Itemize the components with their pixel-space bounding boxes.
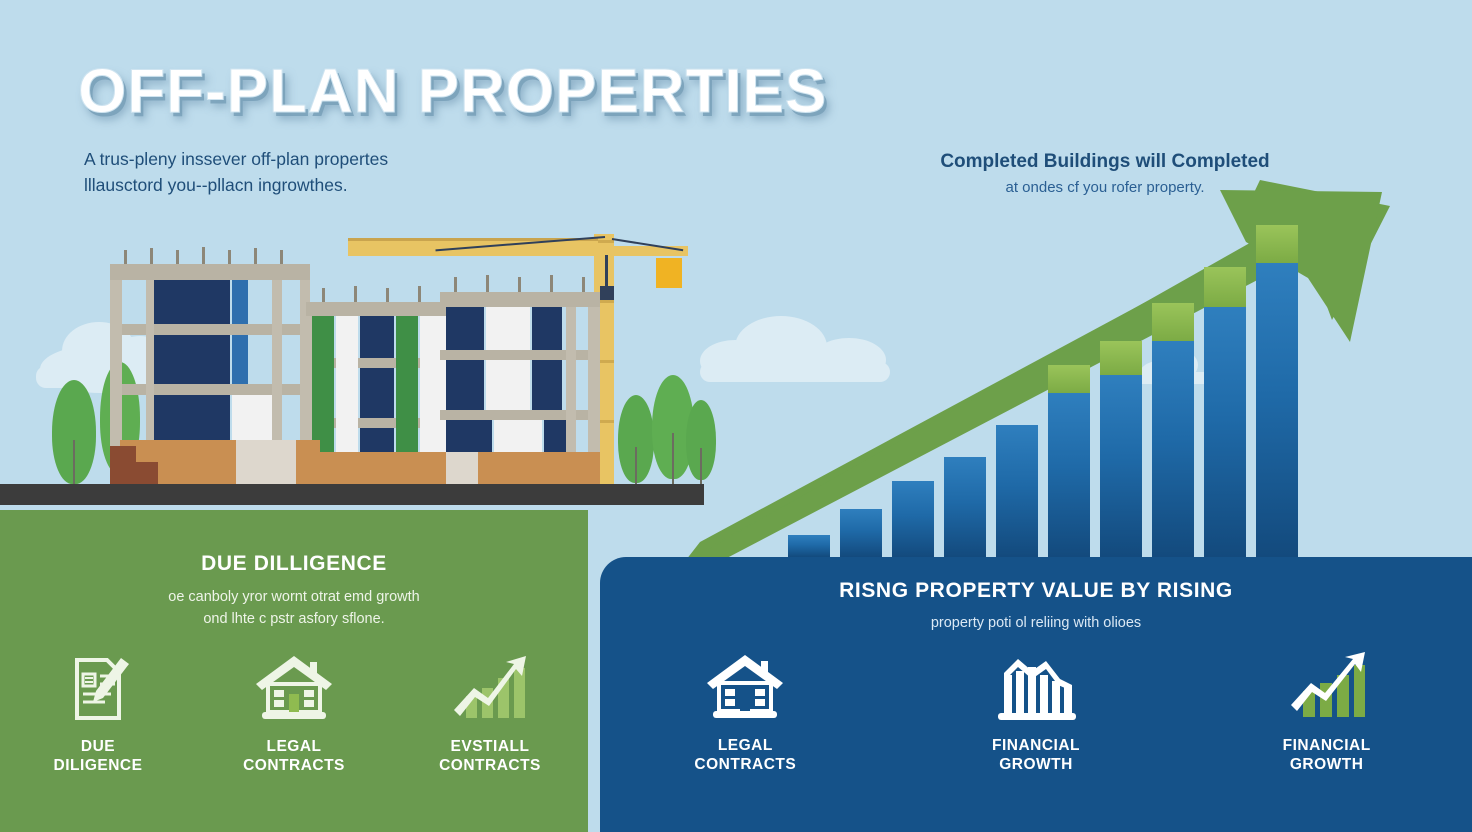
podium-base — [478, 452, 600, 486]
bar-growth-cap — [1204, 267, 1246, 307]
green-panel-heading: DUE DILLIGENCE — [0, 552, 588, 576]
green-panel-sub-line-2: ond lhte c pstr asfory sflone. — [0, 608, 588, 630]
subtitle: A trus-pleny inssever off-plan propertes… — [84, 146, 504, 198]
green-item-growth[interactable]: EVSTIALL CONTRACTS — [392, 650, 588, 775]
growth-chart-icon — [448, 650, 532, 728]
tree — [52, 380, 96, 488]
podium-base — [236, 440, 296, 486]
growth-chart-icon — [1285, 649, 1369, 727]
green-panel-icon-row: DUE DILIGENCE LEGAL — [0, 650, 588, 775]
blue-item-financial-growth-columns[interactable]: FINANCIAL GROWTH — [891, 649, 1182, 774]
blue-item-label: LEGAL CONTRACTS — [694, 736, 796, 774]
subtitle-line-1: A trus-pleny inssever off-plan propertes — [84, 146, 504, 172]
green-item-due-diligence[interactable]: DUE DILIGENCE — [0, 650, 196, 775]
blue-item-financial-growth-arrow[interactable]: FINANCIAL GROWTH — [1181, 649, 1472, 774]
bar — [892, 481, 934, 557]
bar — [1152, 341, 1194, 557]
rising-value-panel: RISNG PROPERTY VALUE BY RISING property … — [600, 557, 1472, 832]
brick-stack — [124, 462, 158, 486]
bar — [1204, 307, 1246, 557]
bank-columns-icon — [992, 649, 1080, 727]
bar — [840, 509, 882, 557]
house-icon — [252, 650, 336, 728]
bar-growth-cap — [1100, 341, 1142, 375]
blue-item-label: FINANCIAL GROWTH — [1283, 736, 1371, 774]
blue-item-label: FINANCIAL GROWTH — [992, 736, 1080, 774]
bar-growth-cap — [1256, 225, 1298, 263]
infographic-canvas: OFF-PLAN PROPERTIES A trus-pleny insseve… — [0, 0, 1472, 832]
bar — [788, 535, 830, 557]
page-title: OFF-PLAN PROPERTIES — [78, 56, 827, 127]
green-panel-sub-line-1: oe canboly yror wornt otrat emd growth — [0, 586, 588, 608]
green-item-legal-contracts[interactable]: LEGAL CONTRACTS — [196, 650, 392, 775]
bar — [944, 457, 986, 557]
bar — [996, 425, 1038, 557]
subtitle-line-2: lllausctord you--pllacn ingrowthes. — [84, 172, 504, 198]
blue-panel-icon-row: LEGAL CONTRACTS FINANCIAL — [600, 649, 1472, 774]
podium-base — [306, 452, 454, 486]
bar-growth-cap — [1048, 365, 1090, 393]
bar — [1256, 263, 1298, 557]
blue-panel-heading: RISNG PROPERTY VALUE BY RISING — [600, 579, 1472, 603]
blue-panel-sub-line-1: property poti ol reliing with olioes — [600, 612, 1472, 634]
bar — [1048, 393, 1090, 557]
tree — [618, 395, 654, 487]
bar — [1100, 375, 1142, 557]
blue-item-legal-contracts[interactable]: LEGAL CONTRACTS — [600, 649, 891, 774]
due-diligence-panel: DUE DILLIGENCE oe canboly yror wornt otr… — [0, 510, 588, 832]
green-item-label: LEGAL CONTRACTS — [243, 737, 345, 775]
bar-chart — [788, 255, 1388, 557]
green-item-label: DUE DILIGENCE — [54, 737, 143, 775]
document-pen-icon — [59, 650, 137, 728]
ground-strip — [0, 484, 704, 505]
house-icon — [703, 649, 787, 727]
bar-growth-cap — [1152, 303, 1194, 341]
green-item-label: EVSTIALL CONTRACTS — [439, 737, 541, 775]
